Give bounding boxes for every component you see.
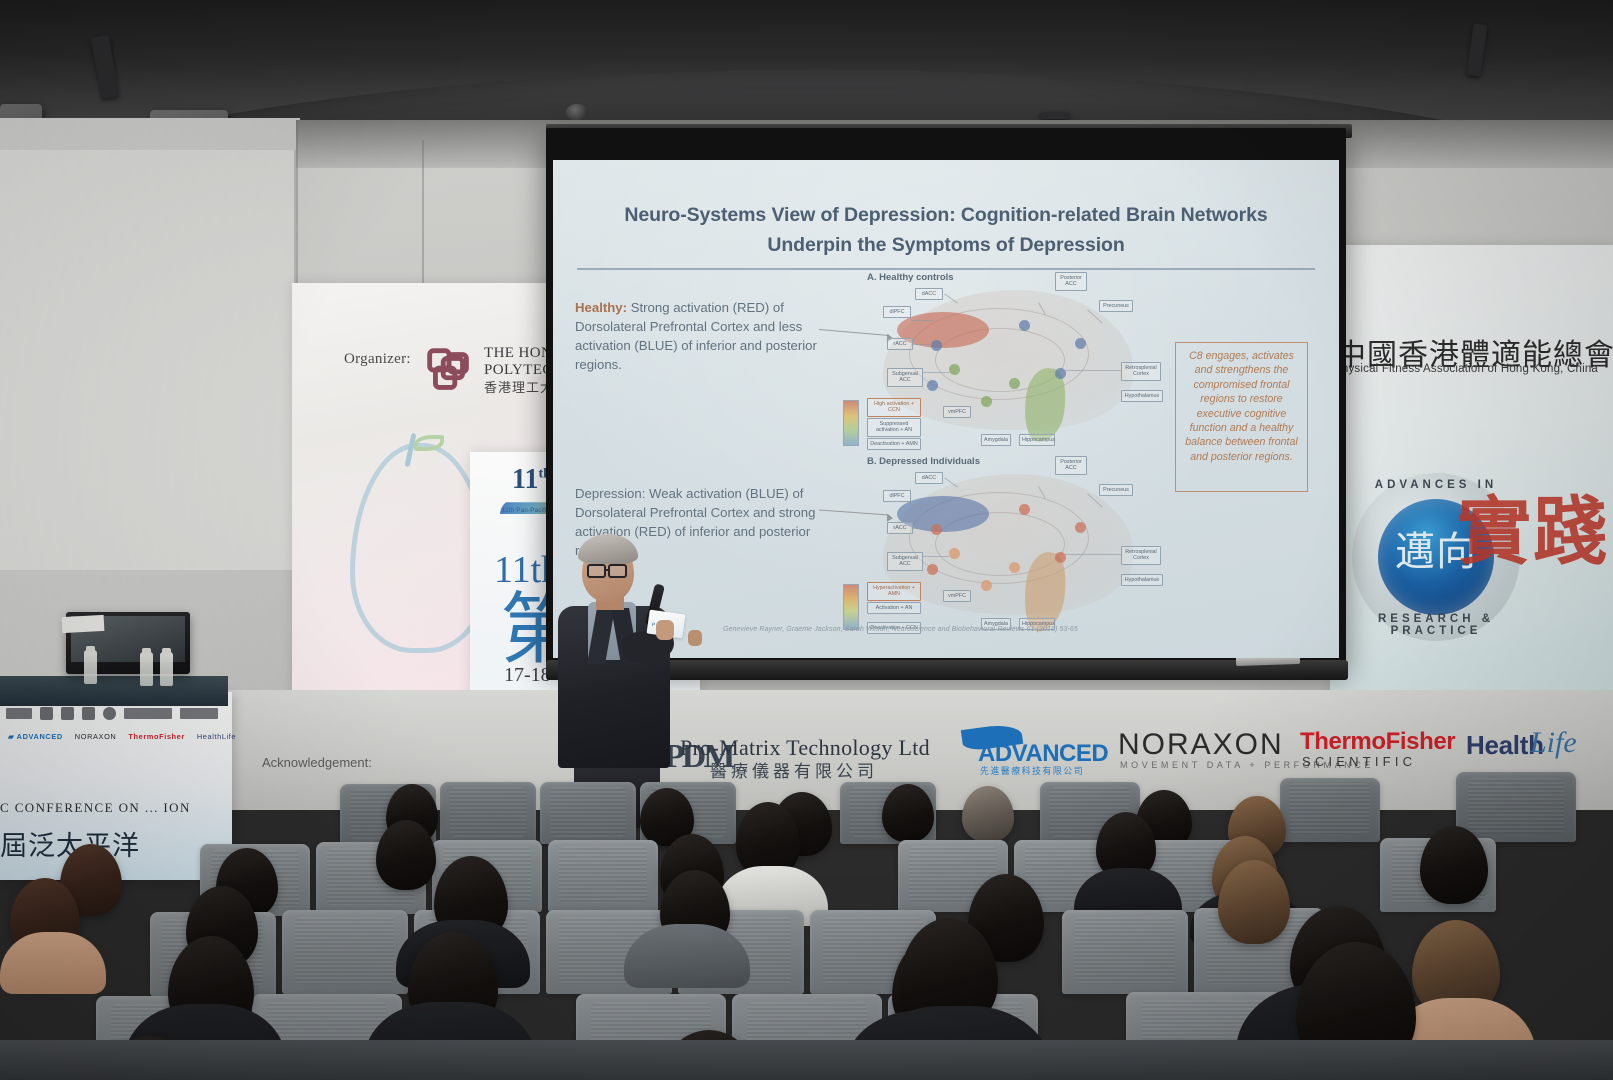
legend-a-item-1: High activation + CCN (867, 398, 921, 417)
node-rACC-b (931, 524, 942, 535)
podium-logo-3 (61, 707, 74, 720)
podium-logo-2 (40, 707, 53, 720)
label-dlPFC-a: dlPFC (883, 306, 911, 318)
podium-logo-1 (6, 708, 32, 719)
connector-b7 (1065, 554, 1121, 555)
podium-logo-4 (82, 707, 95, 720)
label-dlPFC-b: dlPFC (883, 490, 911, 502)
podium-sponsor-thermofisher: ThermoFisher (128, 732, 184, 741)
healthy-keyword: Healthy: (575, 300, 627, 315)
connector-a3 (913, 344, 933, 345)
association-name-en: Physical Fitness Association of Hong Kon… (1334, 363, 1613, 375)
node-vmPFC-a (927, 380, 938, 391)
seat-r1-3[interactable] (540, 782, 636, 844)
seat-r1-2[interactable] (440, 782, 536, 844)
node-precuneus-a (1075, 338, 1086, 349)
presenter-glasses-right-lens (608, 564, 627, 578)
node-amygdala-b (981, 580, 992, 591)
seal-bottom-text: RESEARCH & PRACTICE (1352, 613, 1520, 637)
ceiling-fixture-right (1040, 112, 1070, 119)
presenter-hair (578, 534, 638, 564)
label-vmPFC-a: vmPFC (943, 406, 971, 418)
connector-a4 (923, 372, 949, 373)
seat-r3-2[interactable] (282, 910, 408, 994)
podium-logo-6 (124, 708, 172, 719)
banner-association: 中國香港體適能總會 Physical Fitness Association o… (1330, 245, 1613, 705)
attendee-head-r1-d (882, 784, 934, 842)
panel-b-label: B. Depressed Individuals (867, 456, 980, 467)
water-bottle-cap-2 (142, 648, 151, 654)
podium-sponsor-healthlife: HealthLife (197, 732, 236, 741)
label-hypothalamus-b: Hypothalamus (1121, 574, 1163, 586)
slide-title-line2: Underpin the Symptoms of Depression (767, 234, 1124, 256)
slide-text-healthy: Healthy: Strong activation (RED) of Dors… (575, 298, 817, 374)
node-posterior-ACC-b (1019, 504, 1030, 515)
legend-b-item-1: Hyperactivation + AMN (867, 582, 921, 601)
node-subgenual-b (949, 548, 960, 559)
legend-swatch-b (843, 584, 859, 630)
podium-logo-7 (180, 708, 218, 719)
seat-r1-8[interactable] (1456, 772, 1576, 842)
water-bottle-3[interactable] (160, 652, 173, 686)
water-bottle-1[interactable] (84, 650, 97, 684)
attendee-shoulders-r3-a (0, 932, 106, 994)
label-retrosplenial-a: Retrosplenial Cortex (1121, 362, 1161, 381)
desk-paper-note (62, 615, 105, 633)
audience-seating (0, 760, 1613, 1080)
label-dACC-a: dACC (915, 288, 943, 300)
water-bottle-2[interactable] (140, 652, 153, 686)
node-vmPFC-b (927, 564, 938, 575)
assistant-hand (688, 630, 702, 646)
presenter-hand (656, 620, 674, 640)
label-subgenual-ACC-b: Subgenual ACC (887, 552, 923, 571)
node-hippocampus-a (1009, 378, 1020, 389)
label-hippocampus-a: Hippocampus (1019, 434, 1055, 446)
label-retrosplenial-b: Retrosplenial Cortex (1121, 546, 1161, 565)
polyu-name-cn: 香港理工大學 (484, 380, 554, 395)
polyu-logo-icon (420, 341, 478, 399)
podium-sponsor-row: ▰ ADVANCED NORAXON ThermoFisher HealthLi… (8, 732, 228, 741)
legend-a-item-2: Suppressed activation + AN (867, 418, 921, 437)
label-precuneus-a: Precuneus (1099, 300, 1133, 312)
water-bottle-cap-1 (86, 646, 95, 652)
connector-b3 (913, 528, 933, 529)
legend-a-item-3: Deactivation + AMN (867, 438, 921, 450)
node-rACC-a (931, 340, 942, 351)
node-posterior-ACC-a (1019, 320, 1030, 331)
presenter-glasses-left-lens (587, 564, 606, 578)
podium-org-logo-row (6, 704, 226, 722)
wall-left-panel (0, 150, 296, 570)
seat-r3-7[interactable] (1062, 910, 1188, 994)
attendee-head-r3-f (1218, 860, 1290, 944)
podium-sponsor-noraxon: NORAXON (75, 732, 117, 741)
panel-a-label: A. Healthy controls (867, 272, 954, 283)
water-bottle-cap-3 (162, 648, 171, 654)
slide-title: Neuro-Systems View of Depression: Cognit… (583, 200, 1309, 260)
attendee-shoulders-r3-d (624, 924, 750, 988)
label-amygdala-a: Amygdala (981, 434, 1011, 446)
organizer-label: Organizer: (344, 351, 411, 368)
label-dACC-b: dACC (915, 472, 943, 484)
node-hippocampus-b (1009, 562, 1020, 573)
slide-title-divider (577, 268, 1315, 270)
connector-a1 (911, 320, 933, 321)
conference-dates: 17-18 (504, 664, 551, 687)
presenter-glasses-bridge (606, 569, 610, 571)
floor (0, 1040, 1613, 1080)
label-posterior-ACC-b: Posterior ACC (1055, 456, 1087, 475)
banner-red-cn-text: 實踐 (1457, 495, 1609, 569)
pear-graphic-outline (350, 443, 490, 653)
control-desk (0, 676, 228, 706)
connector-a7 (1065, 370, 1121, 371)
polyu-line1: THE HONG KONG (484, 345, 554, 361)
label-hypothalamus-a: Hypothalamus (1121, 390, 1163, 402)
ceiling-camera (566, 104, 588, 120)
legend-swatch-a (843, 400, 859, 446)
sponsor-logo-noraxon: NORAXON (1118, 728, 1284, 762)
label-vmPFC-b: vmPFC (943, 590, 971, 602)
connector-b4 (923, 556, 949, 557)
polyu-name-en: THE HONG KONG POLYTECHNIC UNIVERSITY 香港理… (484, 345, 554, 397)
label-posterior-ACC-a: Posterior ACC (1055, 272, 1087, 291)
legend-b-item-2: Activation + AN (867, 602, 921, 614)
connector-b1 (911, 504, 933, 505)
node-subgenual-a (949, 364, 960, 375)
diagram-panel-a: A. Healthy controls dACC dlPFC rACC Subg… (849, 272, 1169, 452)
label-rACC-b: rACC (887, 522, 913, 534)
label-subgenual-ACC-a: Subgenual ACC (887, 368, 923, 387)
label-rACC-a: rACC (887, 338, 913, 350)
sponsor-logo-health-italic: Life (1530, 726, 1577, 760)
node-precuneus-b (1075, 522, 1086, 533)
slide-callout-box: C8 engages, activates and strengthens th… (1175, 342, 1308, 492)
node-amygdala-a (981, 396, 992, 407)
seat-r2-4[interactable] (548, 840, 658, 912)
seat-r1-7[interactable] (1280, 778, 1380, 842)
label-precuneus-b: Precuneus (1099, 484, 1133, 496)
lecture-hall-scene: Organizer: THE HONG KONG POLYTECHNIC UNI… (0, 0, 1613, 1080)
sponsor-logo-thermofisher: ThermoFisher (1300, 728, 1455, 756)
diagram-panel-b: B. Depressed Individuals dACC dlPFC rACC… (849, 456, 1169, 636)
polyu-line2: POLYTECHNIC UNIVERSITY (484, 362, 554, 378)
slide-citation: Genevieve Rayner, Graeme Jackson, Sarah … (723, 626, 1323, 633)
ordinal-number: 11 (512, 464, 538, 495)
podium-sponsor-advanced: ▰ ADVANCED (8, 732, 63, 741)
podium-logo-5 (103, 707, 116, 720)
slide-title-line1: Neuro-Systems View of Depression: Cognit… (624, 204, 1267, 226)
attendee-head-r1-e (962, 786, 1014, 842)
